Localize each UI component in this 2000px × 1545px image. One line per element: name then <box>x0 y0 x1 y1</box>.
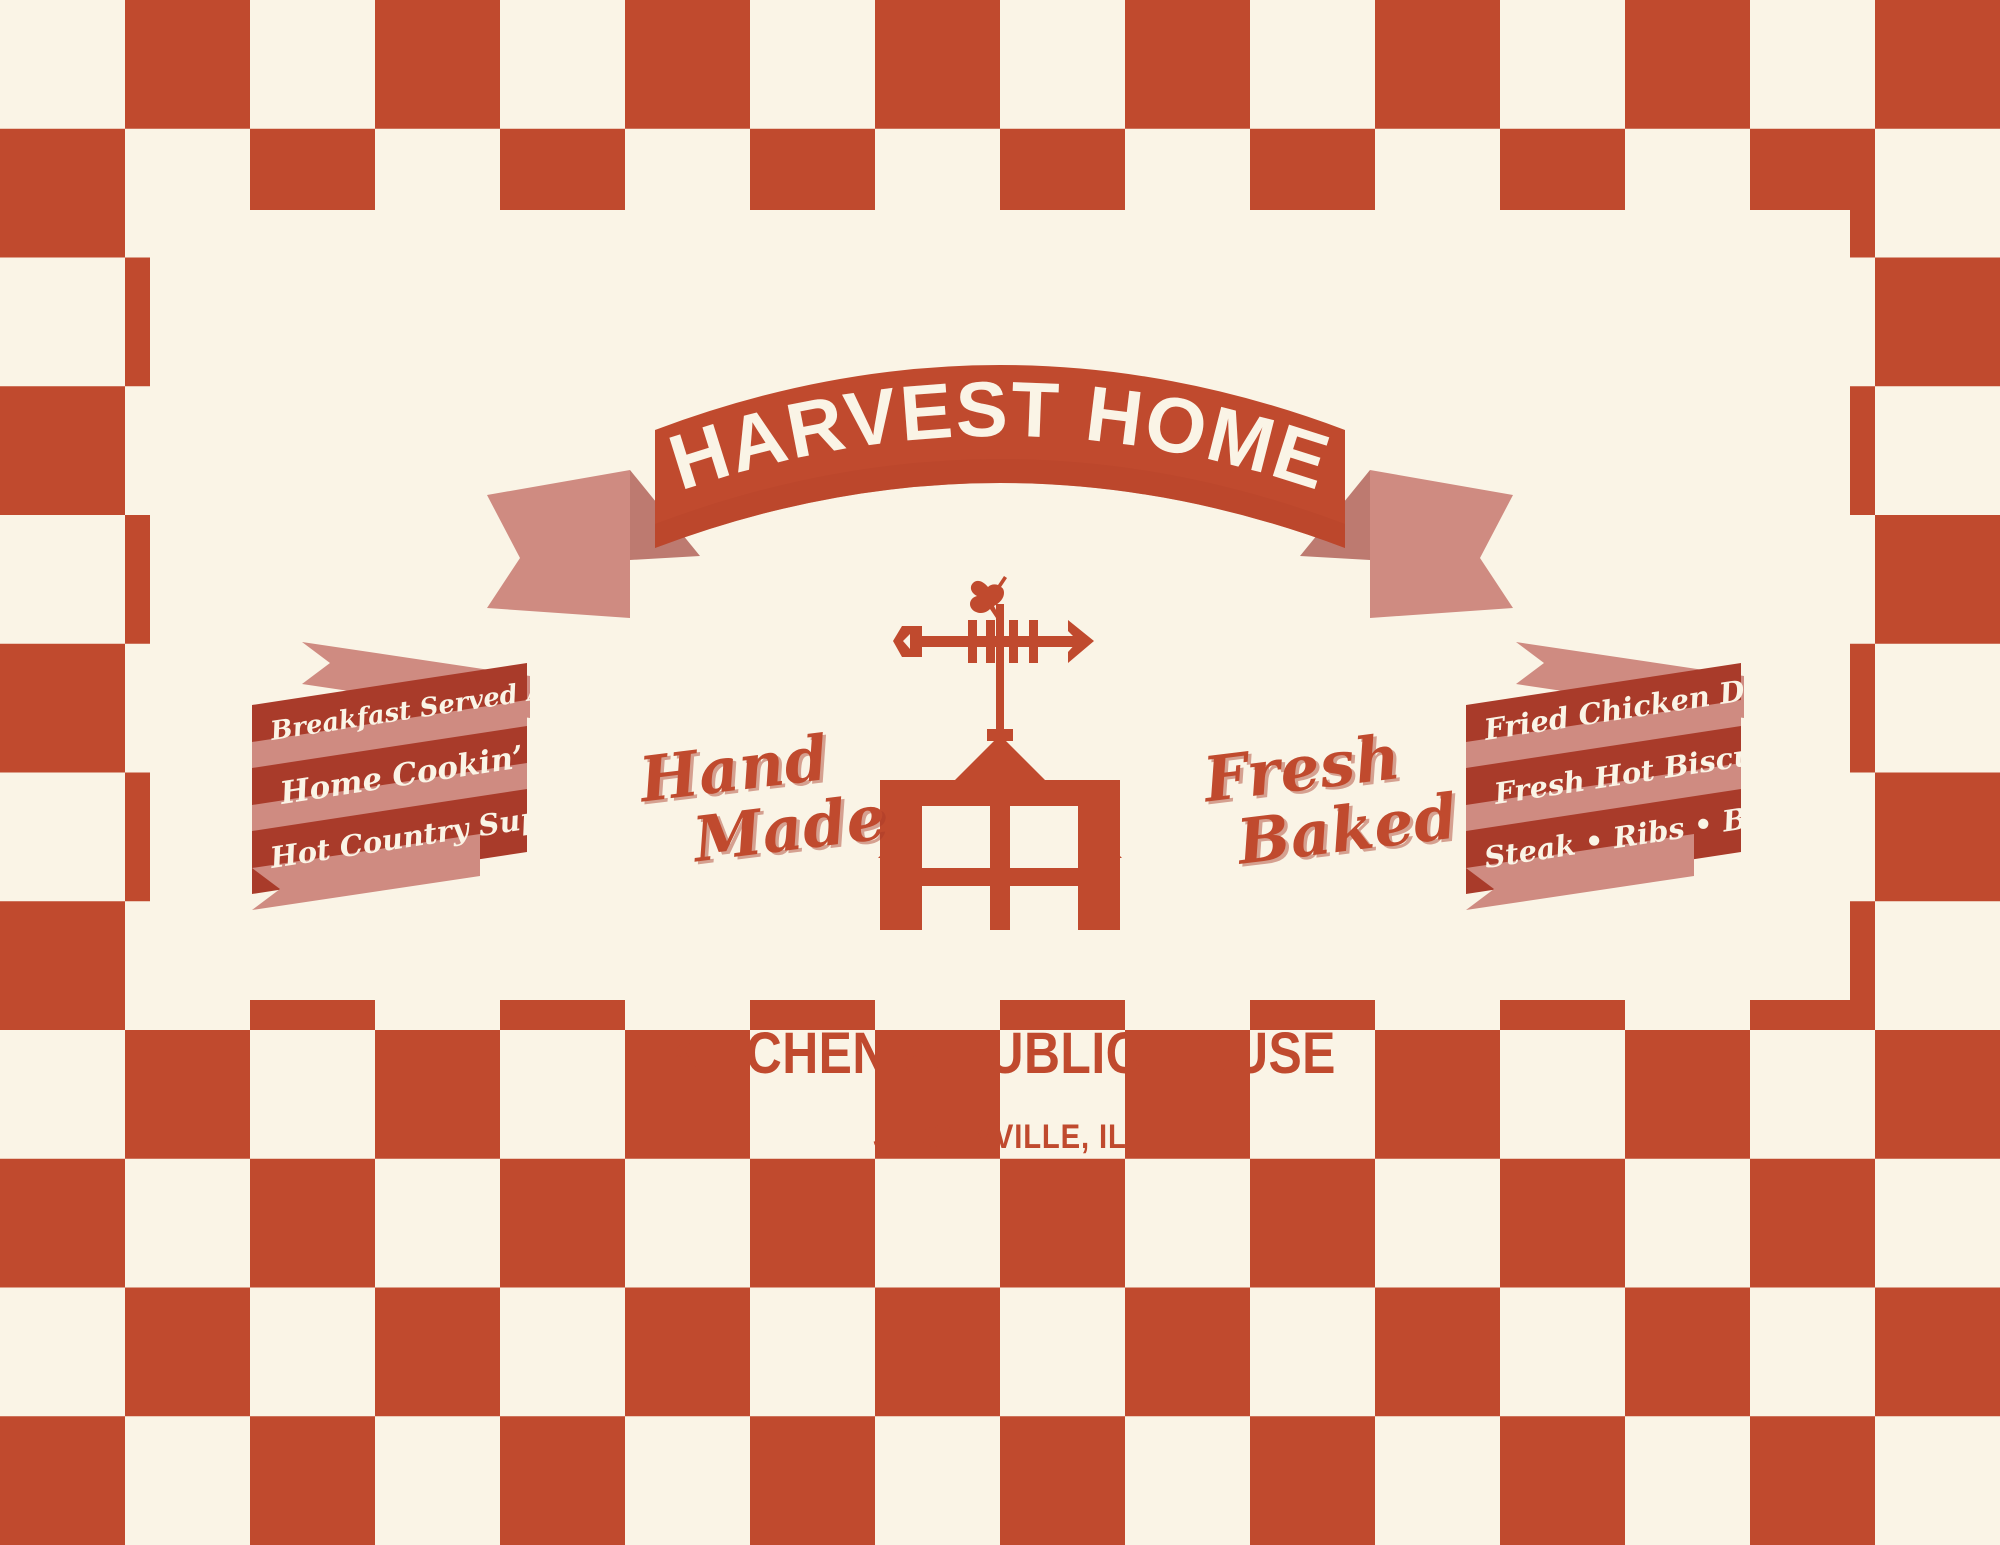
banner-tail-right <box>1370 470 1513 618</box>
center-artwork: HARVEST HOME <box>0 0 2000 1545</box>
banner-group: HARVEST HOME <box>487 365 1513 618</box>
weathervane-shaft <box>920 636 1086 647</box>
weathervane-rod <box>996 604 1004 735</box>
emblem-house-weathervane <box>878 576 1122 948</box>
ribbon-labels-left: Breakfast Served All Day Home Cookin’ Ho… <box>267 662 633 875</box>
weathervane-tick <box>1009 620 1018 663</box>
banner-tail-left <box>487 470 630 618</box>
tagline: KITCHEN & PUBLIC HOUSE <box>140 1020 1860 1087</box>
script-fresh-baked: Fresh Baked <box>1200 718 1461 879</box>
placemat-canvas: HARVEST HOME <box>0 0 2000 1545</box>
weathervane-tick <box>986 620 995 663</box>
script-hand-made: Hand Made <box>636 719 890 879</box>
weathervane-tail <box>893 626 922 657</box>
location-line: JERSEYVILLE, IL <box>140 1118 1860 1157</box>
weathervane-tick <box>968 620 977 663</box>
weathervane-tick <box>1029 620 1038 663</box>
